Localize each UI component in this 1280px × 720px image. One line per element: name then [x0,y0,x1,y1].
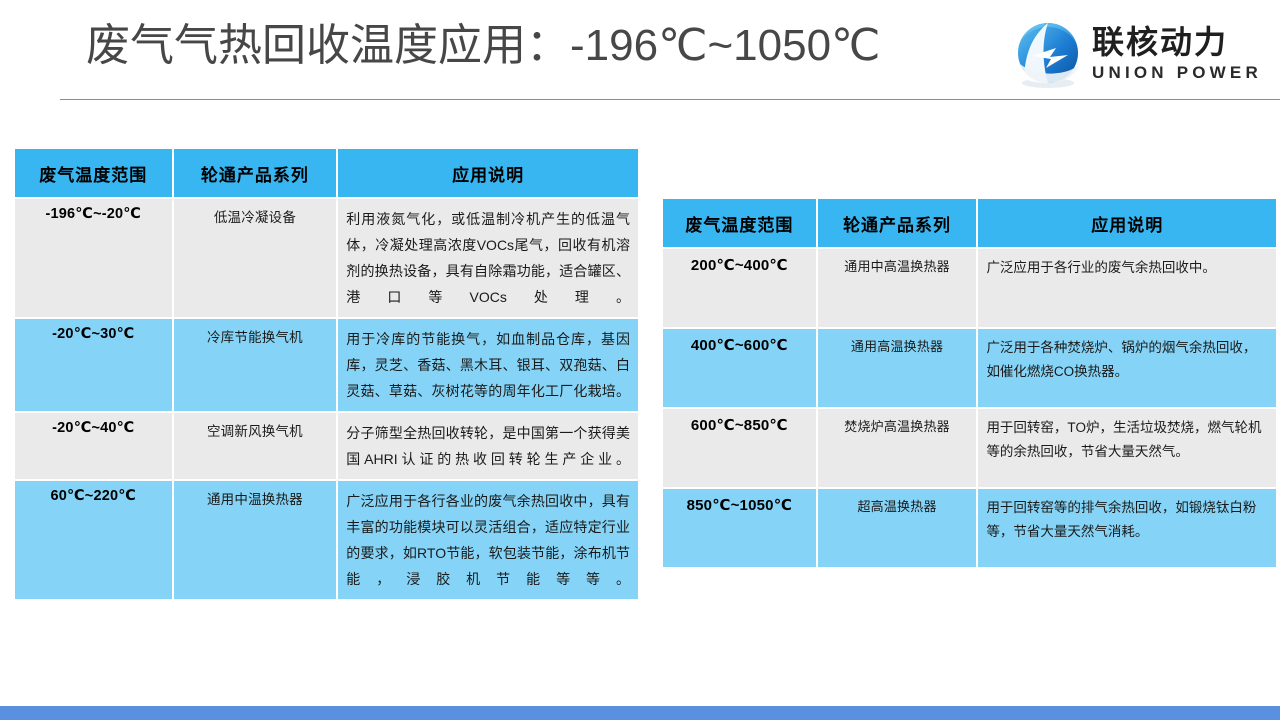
cell-series: 低温冷凝设备 [174,199,337,317]
table-header-row: 废气温度范围 轮通产品系列 应用说明 [663,199,1276,247]
cell-series: 焚烧炉高温换热器 [818,409,977,487]
cell-description: 用于冷库的节能换气，如血制品仓库，基因库，灵芝、香菇、黑木耳、银耳、双孢菇、白灵… [338,319,638,411]
table-row: -196℃~-20℃ 低温冷凝设备 利用液氮气化，或低温制冷机产生的低温气体，冷… [15,199,638,317]
cell-series: 通用高温换热器 [818,329,977,407]
cell-description: 用于回转窑等的排气余热回收，如锻烧钛白粉等，节省大量天然气消耗。 [978,489,1276,567]
high-temperature-application-table: 废气温度范围 轮通产品系列 应用说明 200℃~400℃ 通用中高温换热器 广泛… [661,197,1278,569]
cell-range: 60℃~220℃ [15,481,172,599]
cell-description: 广泛应用于各行业的废气余热回收中。 [978,249,1276,327]
logo-chinese-name: 联核动力 [1092,24,1274,60]
slide-canvas: 废气气热回收温度应用：-196℃~1050℃ [0,0,1280,720]
company-logo: 联核动力 UNION POWER [1012,18,1274,94]
cell-series: 通用中高温换热器 [818,249,977,327]
table-row: 400℃~600℃ 通用高温换热器 广泛用于各种焚烧炉、锅炉的烟气余热回收，如催… [663,329,1276,407]
cell-description: 广泛用于各种焚烧炉、锅炉的烟气余热回收，如催化燃烧CO换热器。 [978,329,1276,407]
table-row: 200℃~400℃ 通用中高温换热器 广泛应用于各行业的废气余热回收中。 [663,249,1276,327]
column-header-range: 废气温度范围 [15,149,172,197]
cell-range: 850℃~1050℃ [663,489,816,567]
cell-series: 通用中温换热器 [174,481,337,599]
cell-series: 空调新风换气机 [174,413,337,479]
cell-description: 广泛应用于各行各业的废气余热回收中，具有丰富的功能模块可以灵活组合，适应特定行业… [338,481,638,599]
logo-wordmark: 联核动力 UNION POWER [1092,24,1274,84]
column-header-series: 轮通产品系列 [174,149,337,197]
cell-range: -20℃~30℃ [15,319,172,411]
table-row: -20℃~30℃ 冷库节能换气机 用于冷库的节能换气，如血制品仓库，基因库，灵芝… [15,319,638,411]
table-header-row: 废气温度范围 轮通产品系列 应用说明 [15,149,638,197]
cell-range: 600℃~850℃ [663,409,816,487]
cell-series: 冷库节能换气机 [174,319,337,411]
cell-range: 400℃~600℃ [663,329,816,407]
logo-english-name: UNION POWER [1092,62,1274,84]
table-row: 850℃~1050℃ 超高温换热器 用于回转窑等的排气余热回收，如锻烧钛白粉等，… [663,489,1276,567]
union-power-globe-icon [1012,20,1084,92]
footer-accent-bar [0,706,1280,720]
cell-description: 利用液氮气化，或低温制冷机产生的低温气体，冷凝处理高浓度VOCs尾气，回收有机溶… [338,199,638,317]
cell-range: 200℃~400℃ [663,249,816,327]
cell-description: 用于回转窑，TO炉，生活垃圾焚烧，燃气轮机等的余热回收，节省大量天然气。 [978,409,1276,487]
column-header-description: 应用说明 [978,199,1276,247]
cell-series: 超高温换热器 [818,489,977,567]
low-temperature-application-table: 废气温度范围 轮通产品系列 应用说明 -196℃~-20℃ 低温冷凝设备 利用液… [13,147,640,601]
cell-description: 分子筛型全热回收转轮，是中国第一个获得美国AHRI认证的热收回转轮生产企业。 [338,413,638,479]
table-row: 60℃~220℃ 通用中温换热器 广泛应用于各行各业的废气余热回收中，具有丰富的… [15,481,638,599]
cell-range: -196℃~-20℃ [15,199,172,317]
column-header-description: 应用说明 [338,149,638,197]
column-header-series: 轮通产品系列 [818,199,977,247]
cell-range: -20℃~40℃ [15,413,172,479]
title-divider [60,99,1280,100]
table-row: -20℃~40℃ 空调新风换气机 分子筛型全热回收转轮，是中国第一个获得美国AH… [15,413,638,479]
page-title: 废气气热回收温度应用：-196℃~1050℃ [86,24,880,68]
column-header-range: 废气温度范围 [663,199,816,247]
table-row: 600℃~850℃ 焚烧炉高温换热器 用于回转窑，TO炉，生活垃圾焚烧，燃气轮机… [663,409,1276,487]
